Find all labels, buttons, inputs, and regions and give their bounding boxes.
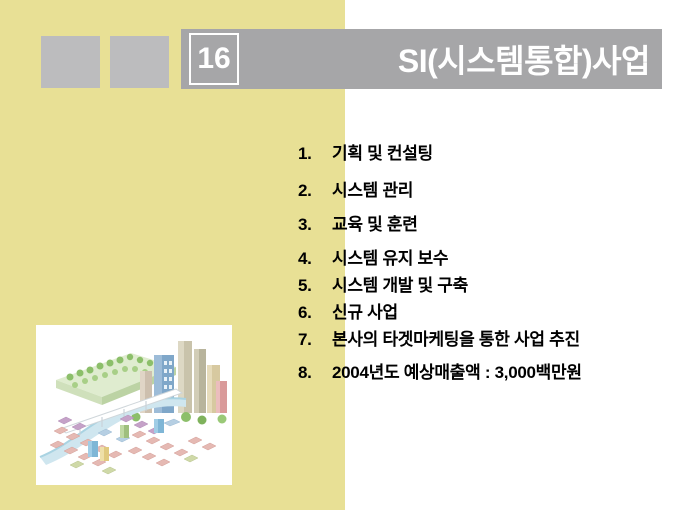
list-item-index: 4. xyxy=(298,249,332,269)
list-item: 3. 교육 및 훈련 xyxy=(298,210,668,235)
page-title: SI(시스템통합)사업 xyxy=(300,29,650,89)
list-item-index: 5. xyxy=(298,276,332,296)
decorative-square-1 xyxy=(41,36,100,88)
list-item-label: 교육 및 훈련 xyxy=(332,210,668,235)
list-item: 2. 시스템 관리 xyxy=(298,176,668,201)
list-item: 6. 신규 사업 xyxy=(298,298,668,323)
list-item-index: 8. xyxy=(298,363,332,383)
city-skyline-illustration xyxy=(36,325,232,485)
list-item: 8. 2004년도 예상매출액 : 3,000백만원 xyxy=(298,358,668,383)
list-item-label: 시스템 관리 xyxy=(332,176,668,201)
list-item-label: 2004년도 예상매출액 : 3,000백만원 xyxy=(332,358,668,383)
decorative-square-2 xyxy=(110,36,169,88)
list-item-label: 시스템 개발 및 구축 xyxy=(332,271,668,296)
list-item-index: 1. xyxy=(298,144,332,164)
slide: 16 SI(시스템통합)사업 1. 기획 및 컨설팅 2. 시스템 관리 3. … xyxy=(0,0,680,510)
list-item-index: 7. xyxy=(298,330,332,350)
slide-number: 16 xyxy=(197,44,230,74)
numbered-list: 1. 기획 및 컨설팅 2. 시스템 관리 3. 교육 및 훈련 4. 시스템 … xyxy=(298,139,668,383)
list-item: 5. 시스템 개발 및 구축 xyxy=(298,271,668,296)
list-item: 7. 본사의 타겟마케팅을 통한 사업 추진 xyxy=(298,325,668,350)
list-item-label: 신규 사업 xyxy=(332,298,668,323)
list-item-index: 3. xyxy=(298,215,332,235)
list-item: 1. 기획 및 컨설팅 xyxy=(298,139,668,164)
list-item-label: 시스템 유지 보수 xyxy=(332,244,668,269)
list-item-label: 기획 및 컨설팅 xyxy=(332,139,668,164)
list-item-label: 본사의 타겟마케팅을 통한 사업 추진 xyxy=(332,325,668,350)
slide-number-box: 16 xyxy=(189,33,239,85)
illustration-graphic xyxy=(36,325,232,485)
list-item: 4. 시스템 유지 보수 xyxy=(298,244,668,269)
list-item-index: 2. xyxy=(298,181,332,201)
list-item-index: 6. xyxy=(298,303,332,323)
